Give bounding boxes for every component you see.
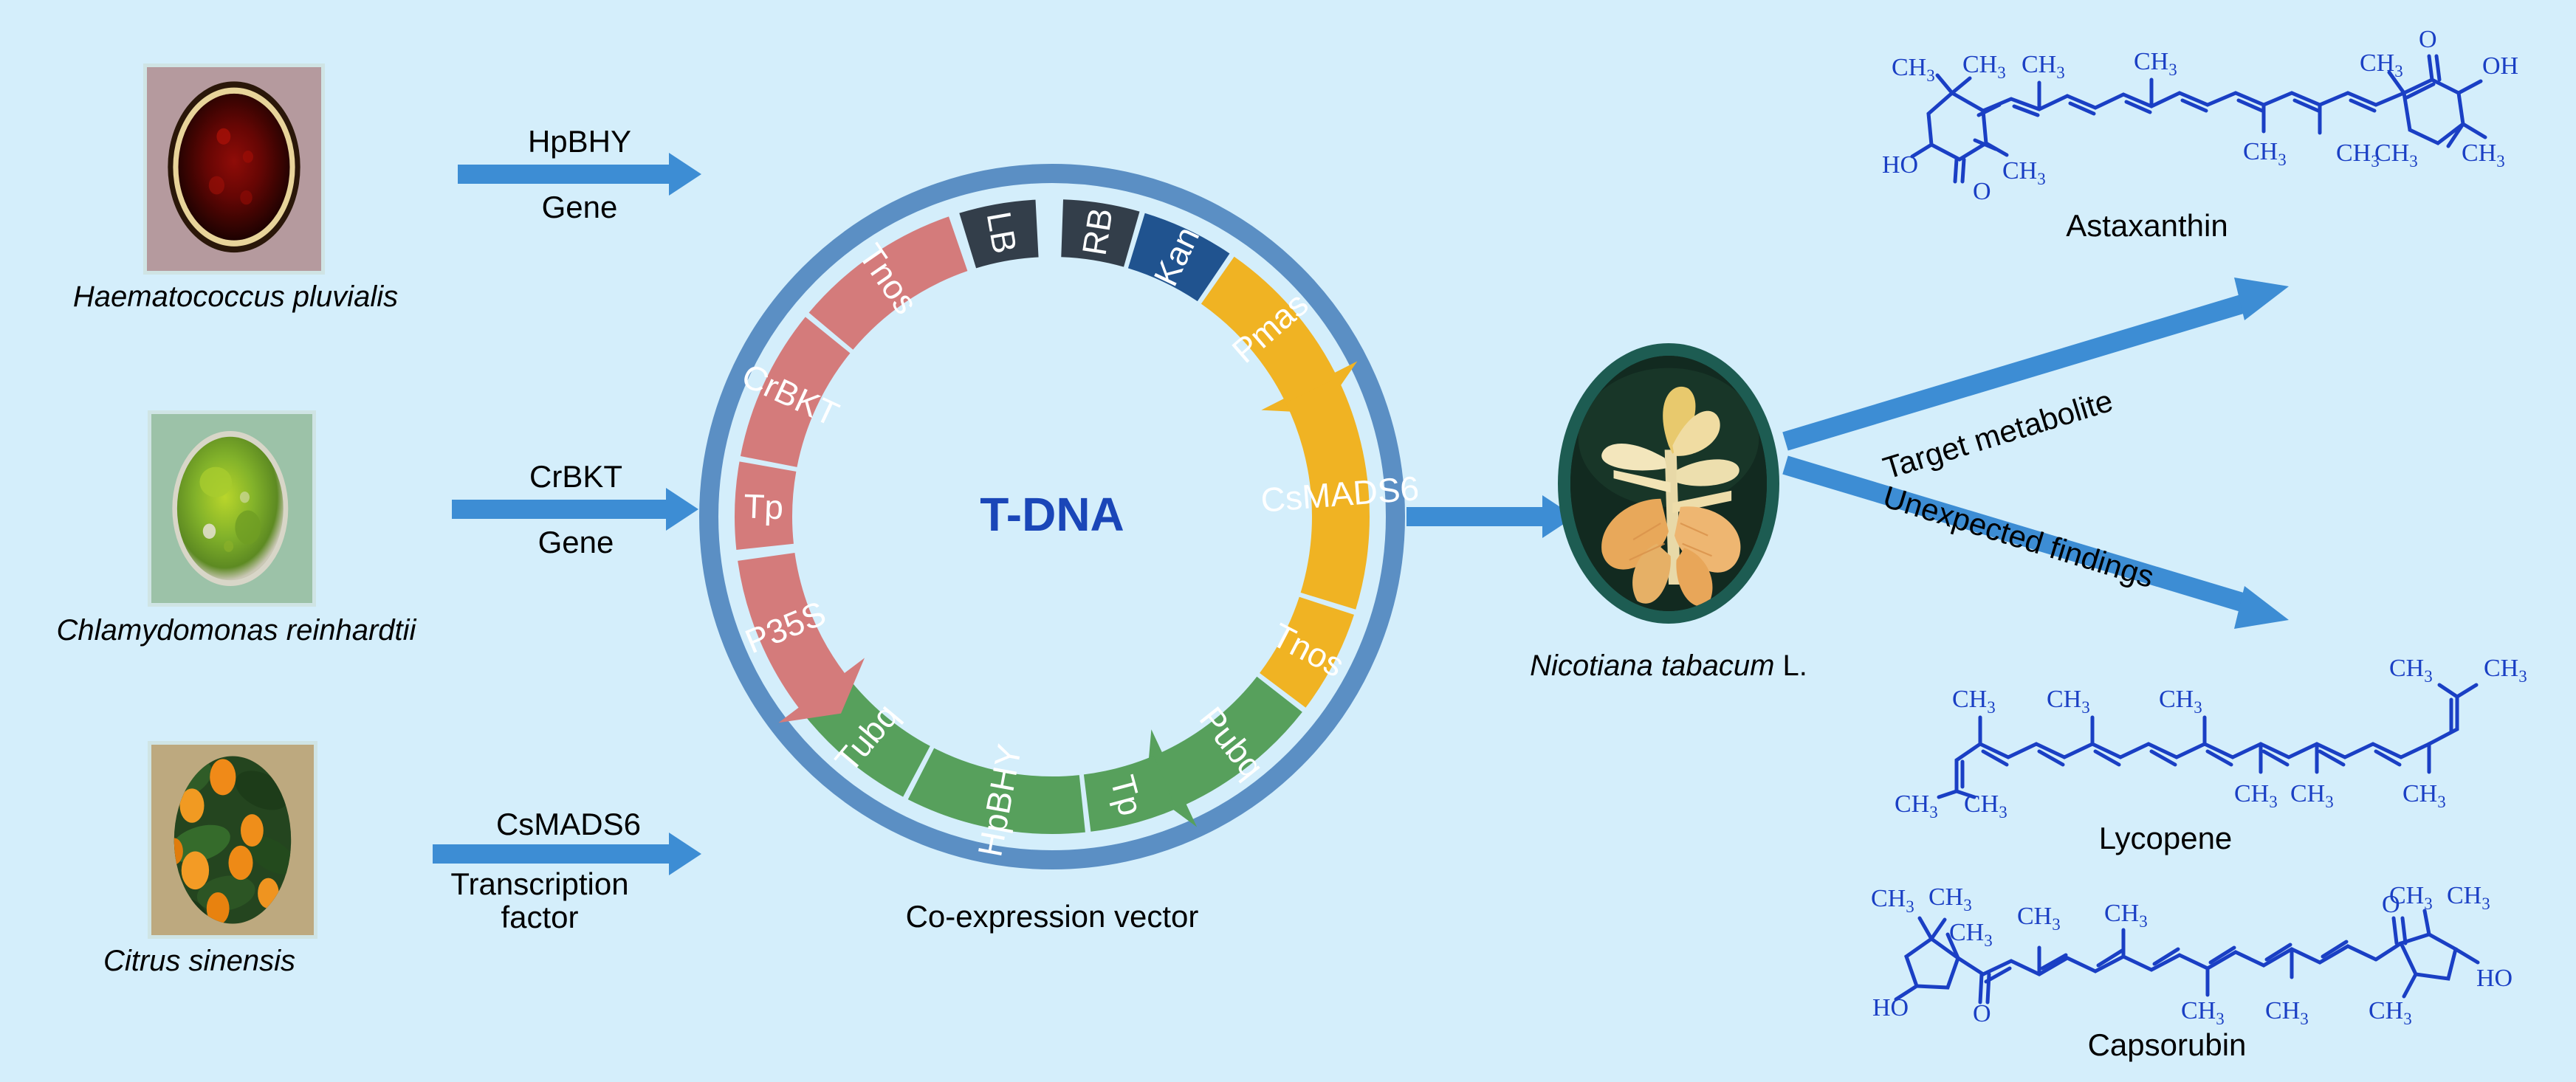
svg-text:CH3: CH3 [2017,903,2061,934]
svg-text:OH: OH [2482,52,2518,80]
outcome-arrows [1772,244,2333,686]
svg-text:CH3: CH3 [2462,139,2505,170]
lycopene-structure: CH3 CH3 CH3 CH3 CH3 CH3 CH3 CH3 CH3 CH3 … [1874,649,2568,819]
gene-arrow-2: CsMADS6 Transcription factor [433,799,704,909]
svg-text:CH3: CH3 [2336,139,2380,170]
svg-text:CH3: CH3 [2484,655,2527,686]
astaxanthin-structure: CH3 CH3 CH3 CH3 HO CH3 CH3 CH3 CH3 CH3 C… [1881,22,2560,207]
svg-text:CH3: CH3 [1962,51,2006,82]
source-photo-0 [143,63,325,275]
svg-text:CH3: CH3 [2402,780,2446,811]
svg-text:CH3: CH3 [2369,997,2412,1026]
svg-text:CH3: CH3 [2022,51,2065,82]
svg-text:CH3: CH3 [2104,900,2148,931]
source-caption-2: Citrus sinensis [44,945,354,978]
svg-text:CH3: CH3 [1871,885,1914,916]
plasmid-map: LBRBKanPmasCsMADS6TnosPubqTpHpBHYTubqP35… [687,140,1418,893]
svg-text:CH3: CH3 [1895,790,1938,819]
svg-text:CH3: CH3 [2181,997,2225,1026]
gene-arrow-2-top-label: CsMADS6 [433,807,704,841]
svg-text:CH3: CH3 [2360,49,2403,80]
gene-arrow-0: HpBHY Gene [458,130,701,218]
svg-text:HO: HO [1872,994,1909,1021]
svg-text:CH3: CH3 [1928,883,1972,914]
svg-text:O: O [1973,178,1991,205]
svg-text:CH3: CH3 [2047,686,2090,717]
svg-text:CH3: CH3 [2447,882,2490,913]
capsorubin-label: Capsorubin [1861,1027,2473,1063]
svg-text:CH3: CH3 [1892,54,1935,85]
svg-text:CH3: CH3 [2243,138,2287,169]
svg-text:HO: HO [1882,151,1918,179]
transformation-arrow [1407,480,1576,554]
gene-arrow-0-bottom-label: Gene [458,190,701,224]
astaxanthin-label: Astaxanthin [1881,208,2413,244]
svg-text:CH3: CH3 [2374,139,2418,170]
lycopene-label: Lycopene [1874,821,2457,856]
source-photo-2 [148,741,317,939]
gene-arrow-2-bottom-label: Transcription factor [440,867,639,934]
source-caption-0: Haematococcus pluvialis [18,280,453,314]
gene-arrow-1-bottom-label: Gene [452,526,700,559]
svg-text:CH3: CH3 [2265,997,2309,1026]
svg-text:CH3: CH3 [2389,655,2433,686]
svg-text:CH3: CH3 [2159,686,2202,717]
plant-caption-italic: Nicotiana tabacum [1530,649,1774,682]
svg-text:CH3: CH3 [2234,780,2278,811]
svg-text:O: O [2382,891,2400,918]
plasmid-caption: Co-expression vector [687,899,1418,934]
svg-text:O: O [1973,1000,1991,1026]
capsorubin-structure: CH3 CH3 CH3 CH3 CH3 CH3 CH3 CH3 CH3 CH3 … [1861,862,2562,1026]
plasmid-segment-label: RB [1074,205,1119,258]
svg-text:HO: HO [2476,965,2513,992]
gene-arrow-0-top-label: HpBHY [458,125,701,158]
svg-text:CH3: CH3 [1949,919,1993,950]
source-photo-1 [148,410,316,607]
figure-canvas: Haematococcus pluvialis HpBHY Gene [0,0,2576,1082]
svg-text:CH3: CH3 [1952,686,1996,717]
svg-text:CH3: CH3 [2002,157,2046,188]
tdna-center-label: T-DNA [687,487,1418,542]
plasmid-segment-label: LB [980,209,1025,256]
source-caption-1: Chlamydomonas reinhardtii [7,614,465,647]
gene-arrow-1-top-label: CrBKT [452,460,700,493]
plant-photo-frame [1558,343,1779,624]
svg-text:CH3: CH3 [2134,48,2177,79]
gene-arrow-1: CrBKT Gene [452,465,700,554]
svg-text:CH3: CH3 [1964,790,2007,819]
svg-text:O: O [2419,26,2437,53]
svg-text:CH3: CH3 [2290,780,2334,811]
